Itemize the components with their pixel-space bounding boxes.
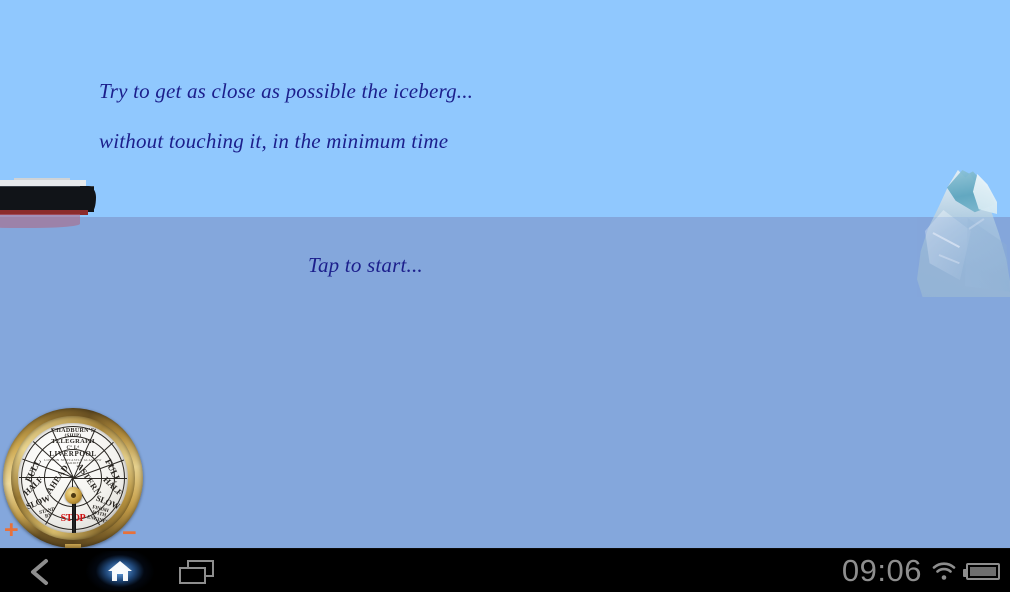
zoom-in-button[interactable]: + bbox=[4, 518, 19, 543]
game-screen[interactable]: Try to get as close as possible the iceb… bbox=[0, 0, 1010, 592]
battery-level bbox=[970, 567, 996, 576]
wifi-icon bbox=[931, 560, 957, 582]
recents-icon bbox=[176, 559, 222, 585]
home-button[interactable] bbox=[84, 551, 156, 591]
android-navigation-bar: 09:06 bbox=[0, 548, 1010, 592]
recent-apps-button[interactable] bbox=[176, 559, 222, 585]
player-ship bbox=[0, 118, 98, 236]
status-area: 09:06 bbox=[842, 549, 1000, 592]
status-clock: 09:06 bbox=[842, 553, 922, 589]
ship-reflection bbox=[0, 214, 80, 228]
iceberg-submerged-tint bbox=[917, 217, 1010, 297]
chevron-left-icon bbox=[33, 561, 46, 583]
instruction-line-2: without touching it, in the minimum time bbox=[99, 129, 448, 154]
battery-icon bbox=[966, 563, 1000, 580]
home-icon bbox=[107, 559, 133, 583]
battery-terminal bbox=[963, 569, 967, 577]
instruction-line-1: Try to get as close as possible the iceb… bbox=[99, 79, 473, 104]
sky-background bbox=[0, 0, 1010, 217]
tap-to-start-prompt[interactable]: Tap to start... bbox=[308, 253, 423, 278]
sea-background bbox=[0, 217, 1010, 548]
telegraph-dial-face[interactable]: CHADBURN'S (SHIP) TELEGRAPH Cº Lᵈ LIVERP… bbox=[18, 423, 128, 533]
telegraph-hub-center bbox=[71, 493, 76, 498]
ship-bow bbox=[80, 186, 96, 212]
zoom-out-button[interactable]: − bbox=[122, 521, 137, 546]
back-button[interactable] bbox=[24, 557, 58, 587]
iceberg bbox=[917, 170, 1010, 297]
